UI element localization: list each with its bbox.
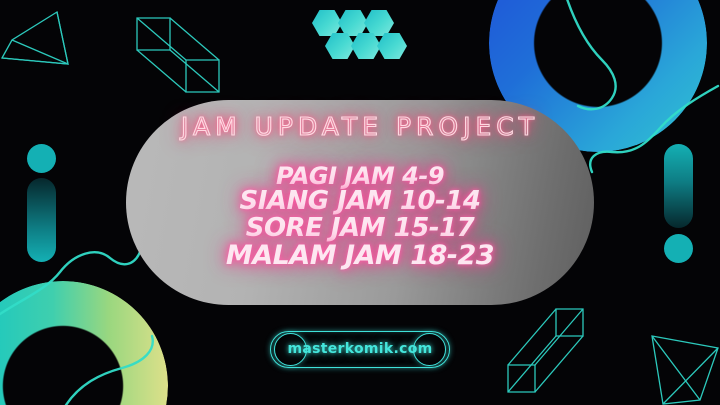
- exclamation-dot-icon: [664, 234, 693, 263]
- exclamation-bar-icon: [664, 144, 693, 228]
- hexagon-icon: [312, 10, 342, 36]
- schedule-line-siang: SIANG JAM 10-14: [126, 188, 594, 215]
- teal-lime-gradient-ring: [0, 281, 168, 405]
- hexagon-icon: [377, 33, 407, 59]
- long-box-top-left-icon: [137, 18, 219, 92]
- pyramid-bottom-right-icon: [652, 336, 718, 404]
- page-title: JAM UPDATE PROJECT: [126, 112, 594, 141]
- hexagon-icon: [338, 10, 368, 36]
- schedule-line-sore: SORE JAM 15-17: [126, 215, 594, 242]
- hexagon-icon: [325, 33, 355, 59]
- schedule-line-malam: MALAM JAM 18-23: [126, 242, 594, 270]
- hexagon-icon: [351, 33, 381, 59]
- info-i-dot-icon: [27, 144, 56, 173]
- content-panel: JAM UPDATE PROJECT PAGI JAM 4-9 SIANG JA…: [126, 100, 594, 305]
- pyramid-top-left-icon: [2, 12, 68, 64]
- website-url-label: masterkomik.com: [270, 341, 450, 357]
- poster-canvas: JAM UPDATE PROJECT PAGI JAM 4-9 SIANG JA…: [0, 0, 720, 405]
- schedule-line-pagi: PAGI JAM 4-9: [126, 164, 594, 188]
- long-box-bottom-right-icon: [508, 309, 583, 392]
- hexagon-icon: [364, 10, 394, 36]
- info-i-bar-icon: [27, 178, 56, 262]
- website-badge[interactable]: masterkomik.com: [270, 331, 450, 368]
- schedule-list: PAGI JAM 4-9 SIANG JAM 10-14 SORE JAM 15…: [126, 164, 594, 269]
- hexagon-cluster-icon: [312, 4, 422, 64]
